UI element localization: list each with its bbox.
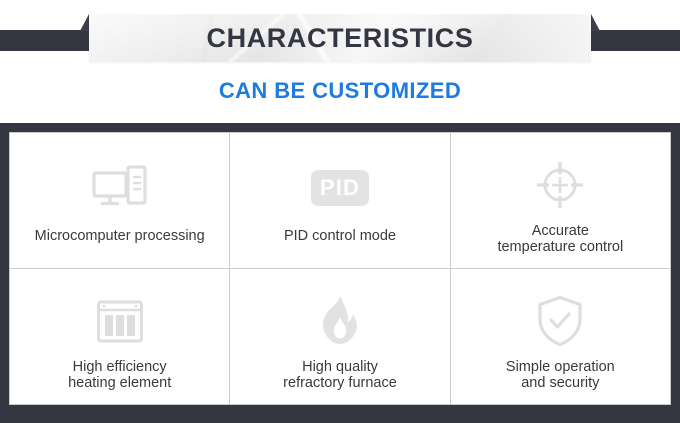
- ribbon-bar-right: [584, 30, 680, 51]
- feature-cell-pid-control-mode[interactable]: PID PID control mode: [229, 133, 449, 268]
- feature-row: Microcomputer processing PID PID control…: [10, 133, 670, 268]
- ribbon-panel: CHARACTERISTICS: [89, 14, 591, 62]
- feature-label: PID control mode: [284, 228, 396, 258]
- feature-label: Microcomputer processing: [35, 228, 205, 258]
- flame-icon: [236, 283, 443, 359]
- header-ribbon: CHARACTERISTICS: [0, 0, 680, 70]
- radiator-heating-element-icon: [16, 283, 223, 359]
- feature-cell-microcomputer-processing[interactable]: Microcomputer processing: [10, 133, 229, 268]
- pid-badge-icon: PID: [236, 147, 443, 228]
- feature-label: High quality refractory furnace: [283, 359, 397, 394]
- feature-label: Simple operation and security: [506, 359, 615, 394]
- feature-grid-frame: Microcomputer processing PID PID control…: [0, 123, 680, 423]
- ribbon-bar-left: [0, 30, 96, 51]
- ribbon-fold-left-icon: [80, 14, 89, 31]
- characteristics-infographic: CHARACTERISTICS CAN BE CUSTOMIZED: [0, 0, 680, 423]
- crosshair-target-icon: [457, 147, 664, 223]
- feature-row: High efficiency heating element High qua…: [10, 268, 670, 404]
- page-title: CHARACTERISTICS: [206, 23, 473, 54]
- feature-cell-simple-operation-and-security[interactable]: Simple operation and security: [450, 269, 670, 404]
- feature-cell-accurate-temperature-control[interactable]: Accurate temperature control: [450, 133, 670, 268]
- feature-label: High efficiency heating element: [68, 359, 171, 394]
- feature-cell-high-efficiency-heating-element[interactable]: High efficiency heating element: [10, 269, 229, 404]
- feature-cell-high-quality-refractory-furnace[interactable]: High quality refractory furnace: [229, 269, 449, 404]
- pid-badge-text: PID: [311, 170, 369, 206]
- ribbon-fold-right-icon: [591, 14, 600, 31]
- page-subtitle: CAN BE CUSTOMIZED: [0, 78, 680, 104]
- feature-grid: Microcomputer processing PID PID control…: [9, 132, 671, 405]
- shield-check-icon: [457, 283, 664, 359]
- desktop-computer-icon: [16, 147, 223, 228]
- feature-label: Accurate temperature control: [497, 223, 623, 258]
